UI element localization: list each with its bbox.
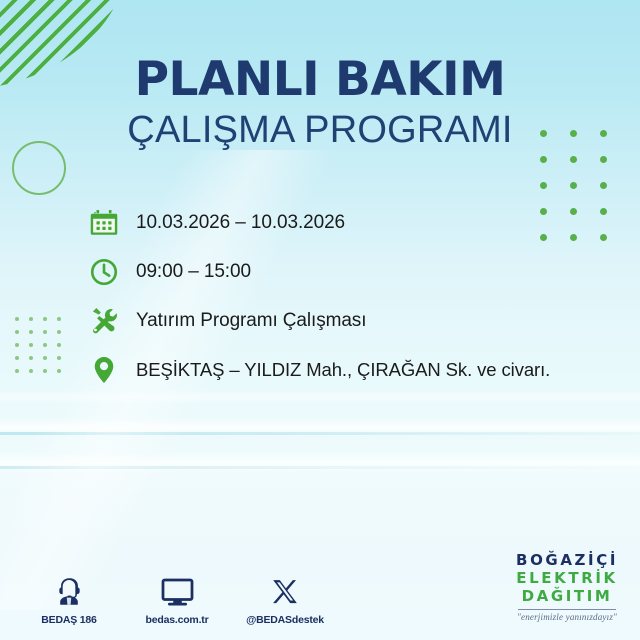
background-wave-line [0, 466, 640, 469]
monitor-icon [161, 573, 194, 607]
detail-row-time: 09:00 – 15:00 [86, 247, 606, 296]
contact-list: BEDAŞ 186 bedas.com.tr [26, 573, 328, 626]
detail-row-location: BEŞİKTAŞ – YILDIZ Mah., ÇIRAĞAN Sk. ve c… [86, 345, 606, 394]
title-primary: PLANLI BAKIM [0, 56, 640, 105]
location-pin-icon [86, 352, 122, 388]
page-title: PLANLI BAKIM ÇALIŞMA PROGRAMI [0, 56, 640, 151]
date-range-text: 10.03.2026 – 10.03.2026 [136, 212, 345, 234]
dot-grid-left-decoration [10, 312, 66, 377]
planned-maintenance-poster: PLANLI BAKIM ÇALIŞMA PROGRAMI [0, 0, 640, 640]
brand-divider [518, 609, 616, 610]
bedas-logo: BOĞAZİÇİ ELEKTRİK DAĞITIM "enerjimizle y… [516, 553, 618, 622]
detail-row-date: 10.03.2026 – 10.03.2026 [86, 198, 606, 247]
maintenance-details-list: 10.03.2026 – 10.03.2026 09:00 – 15:00 [86, 198, 606, 394]
work-type-text: Yatırım Programı Çalışması [136, 310, 366, 332]
tools-icon [86, 303, 122, 339]
brand-line-1: BOĞAZİÇİ [516, 553, 618, 568]
background-wave-band [0, 452, 640, 474]
contact-website-label: bedas.com.tr [146, 614, 209, 626]
title-secondary: ÇALIŞMA PROGRAMI [0, 109, 640, 152]
contact-phone[interactable]: BEDAŞ 186 [26, 573, 112, 626]
headset-operator-icon [54, 573, 84, 607]
contact-phone-label: BEDAŞ 186 [41, 614, 96, 626]
footer: BEDAŞ 186 bedas.com.tr [0, 550, 640, 640]
detail-row-work-type: Yatırım Programı Çalışması [86, 296, 606, 345]
background-wave-line [0, 432, 640, 435]
background-wave-band [0, 418, 640, 436]
brand-tagline: "enerjimizle yanınızdayız" [516, 613, 618, 622]
x-twitter-icon [271, 573, 300, 607]
calendar-icon [86, 205, 122, 241]
contact-x-label: @BEDASdestek [246, 614, 324, 626]
clock-icon [86, 254, 122, 290]
location-text: BEŞİKTAŞ – YILDIZ Mah., ÇIRAĞAN Sk. ve c… [136, 359, 550, 381]
contact-x-account[interactable]: @BEDASdestek [242, 573, 328, 626]
brand-line-2: ELEKTRİK [516, 571, 618, 586]
time-range-text: 09:00 – 15:00 [136, 261, 251, 283]
contact-website[interactable]: bedas.com.tr [134, 573, 220, 626]
brand-line-3: DAĞITIM [516, 589, 618, 604]
